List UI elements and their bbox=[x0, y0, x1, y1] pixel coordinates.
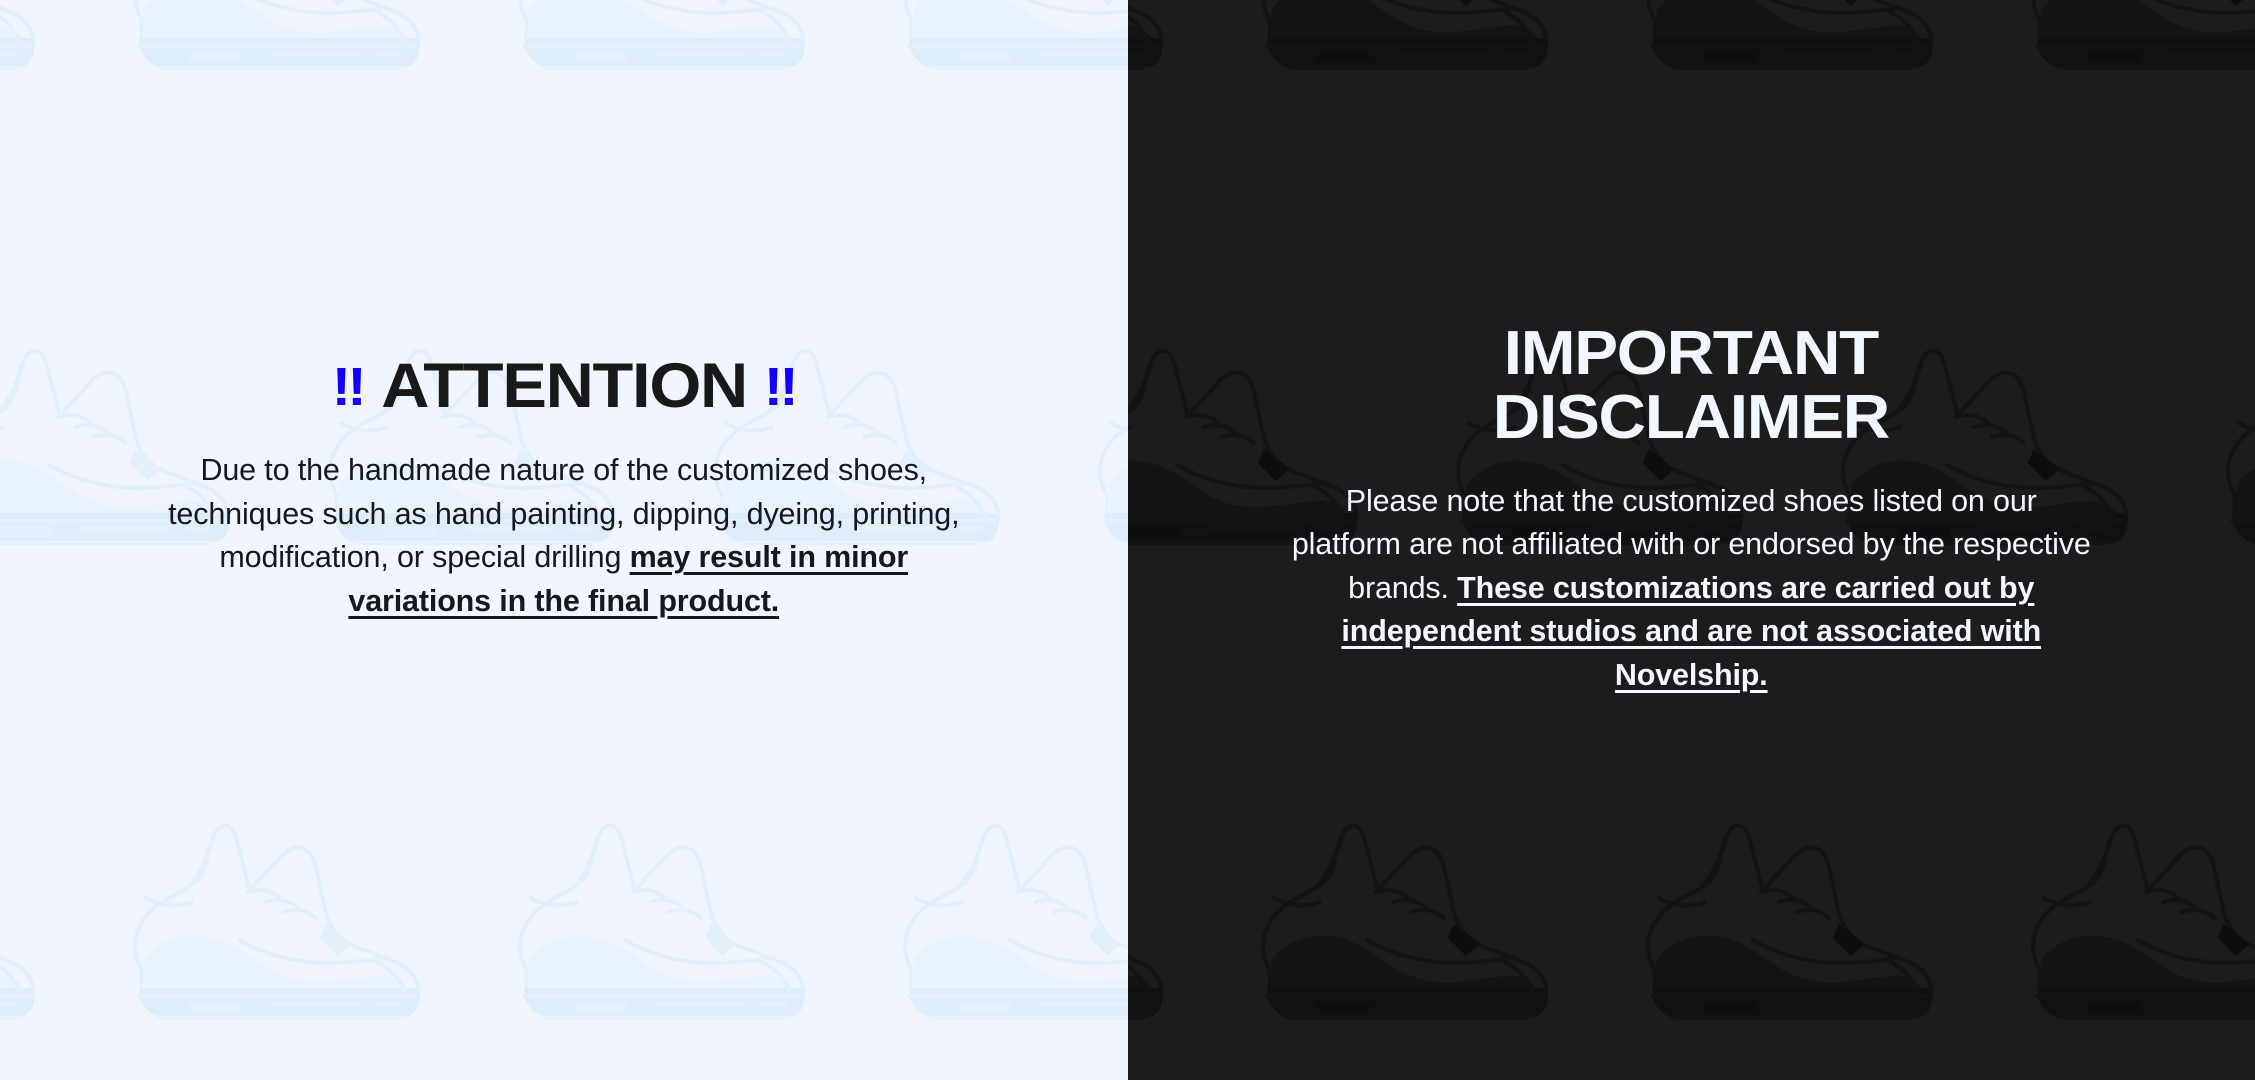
attention-body: Due to the handmade nature of the custom… bbox=[164, 449, 964, 623]
attention-heading-text: ATTENTION bbox=[381, 351, 747, 421]
disclaimer-heading: IMPORTANT DISCLAIMER bbox=[1493, 322, 1889, 450]
disclaimer-content: IMPORTANT DISCLAIMER Please note that th… bbox=[1128, 0, 2255, 697]
attention-heading: ‼ATTENTION‼ bbox=[331, 355, 796, 418]
double-exclamation-right-icon: ‼ bbox=[764, 357, 796, 417]
attention-content: ‼ATTENTION‼ Due to the handmade nature o… bbox=[0, 0, 1128, 623]
disclaimer-panel: IMPORTANT DISCLAIMER Please note that th… bbox=[1128, 0, 2255, 1080]
disclaimer-banner: ‼ATTENTION‼ Due to the handmade nature o… bbox=[0, 0, 2255, 1080]
attention-panel: ‼ATTENTION‼ Due to the handmade nature o… bbox=[0, 0, 1128, 1080]
disclaimer-heading-line-1: IMPORTANT bbox=[1504, 319, 1878, 388]
disclaimer-body: Please note that the customized shoes li… bbox=[1291, 480, 2091, 698]
disclaimer-heading-line-2: DISCLAIMER bbox=[1493, 383, 1889, 452]
double-exclamation-left-icon: ‼ bbox=[331, 357, 363, 417]
